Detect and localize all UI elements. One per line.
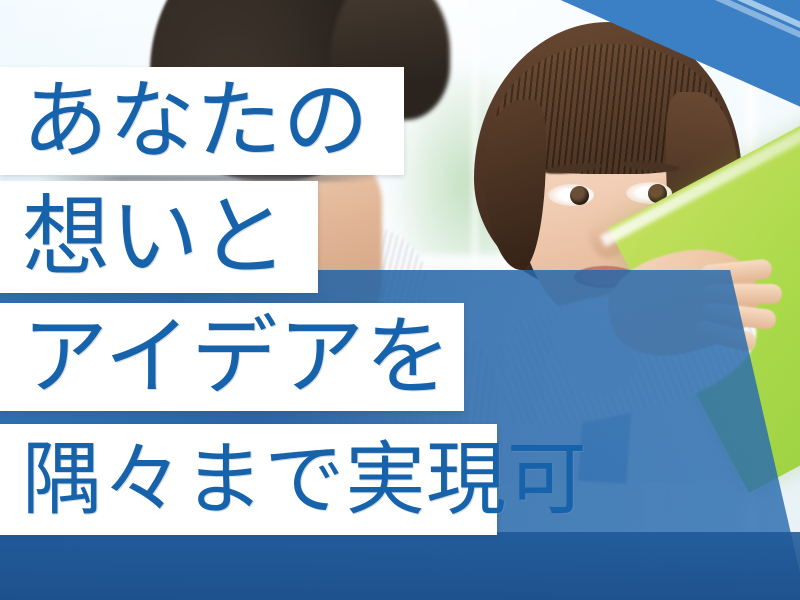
headline-line-3: アイデアを xyxy=(0,314,452,400)
headline-band-4: 隅々まで実現可 xyxy=(0,424,497,535)
headline-line-2: 想いと xyxy=(0,193,289,281)
headline-line-4: 隅々まで実現可 xyxy=(0,440,588,520)
headline-band-3: アイデアを xyxy=(0,303,464,411)
corner-decoration xyxy=(370,0,800,230)
divider-rule xyxy=(0,411,470,424)
headline-line-1: あなたの xyxy=(0,78,369,164)
headline-band-2: 想いと xyxy=(0,181,318,293)
banner-canvas: あなたの 想いと アイデアを 隅々まで実現可 xyxy=(0,0,800,600)
diagonal-blue-corner xyxy=(370,0,800,160)
divider-rule xyxy=(0,293,330,303)
headline-band-1: あなたの xyxy=(0,67,404,175)
bottom-blue-band xyxy=(0,532,800,600)
